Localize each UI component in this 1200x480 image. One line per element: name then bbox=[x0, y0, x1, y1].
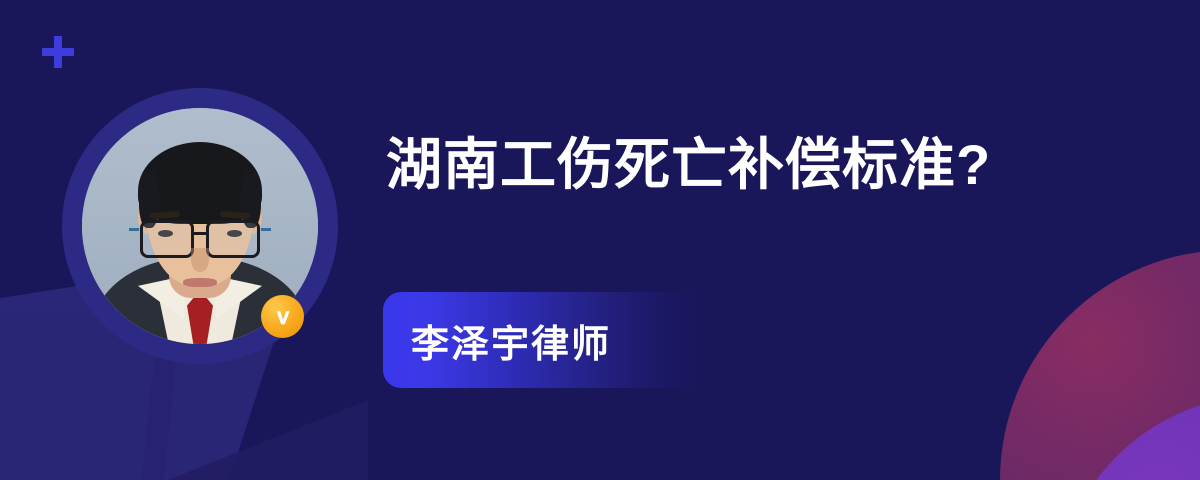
glasses-lens-right bbox=[206, 220, 260, 258]
portrait-nose bbox=[191, 248, 209, 272]
violet-blob-shape bbox=[1055, 395, 1200, 480]
verified-check-icon bbox=[261, 295, 304, 338]
page-title: 湖南工伤死亡补偿标准? bbox=[386, 130, 991, 200]
glasses-bridge bbox=[191, 232, 209, 235]
portrait-mouth bbox=[183, 278, 217, 287]
promo-banner: 湖南工伤死亡补偿标准? 李泽宇律师 bbox=[0, 0, 1200, 480]
triangle-shape bbox=[168, 400, 368, 480]
lawyer-name-button[interactable]: 李泽宇律师 bbox=[383, 292, 711, 388]
glasses-lens-left bbox=[140, 220, 194, 258]
magenta-blob-shape bbox=[1000, 250, 1200, 480]
glasses-temple-right bbox=[261, 228, 271, 231]
glasses-temple-left bbox=[129, 228, 139, 231]
plus-icon bbox=[42, 36, 74, 68]
